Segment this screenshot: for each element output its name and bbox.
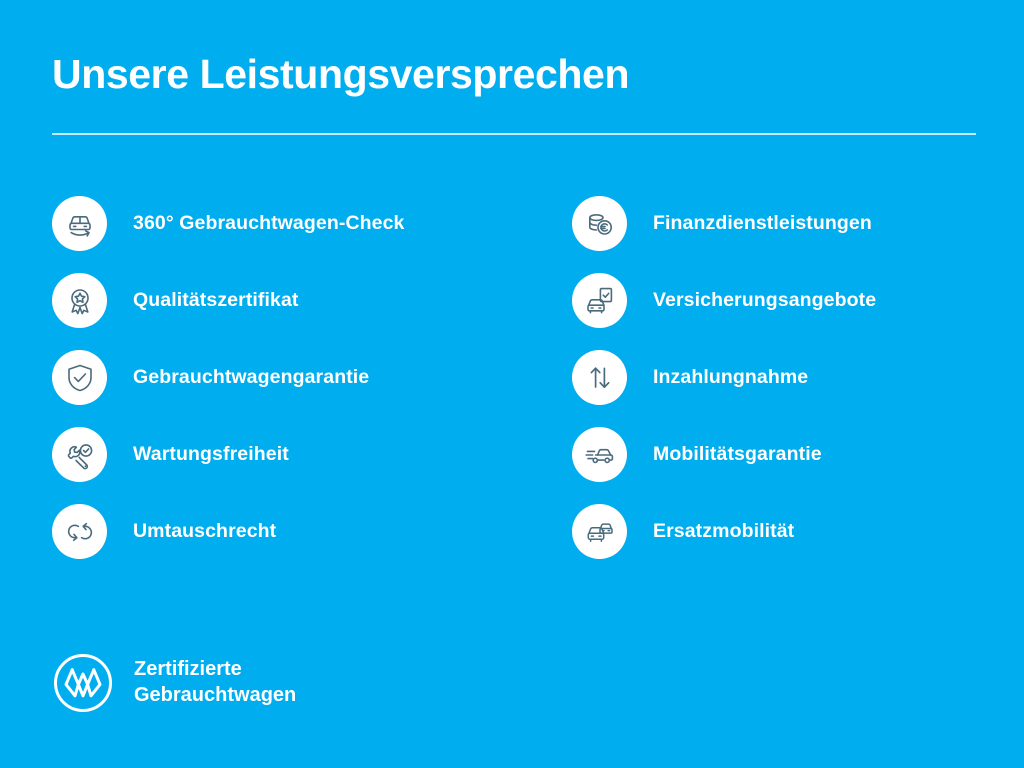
coins-euro-icon (572, 196, 627, 251)
car-document-check-icon (572, 273, 627, 328)
volkswagen-logo-icon (52, 652, 114, 714)
title-divider (52, 133, 976, 135)
promises-column-right: Finanzdienstleistungen Versicherungsange… (0, 196, 1024, 581)
two-cars-icon (572, 504, 627, 559)
promise-item-inzahlungnahme[interactable]: Inzahlungnahme (572, 350, 1024, 405)
brand-text: Zertifizierte Gebrauchtwagen (134, 657, 296, 708)
promise-page: Unsere Leistungsversprechen 360° Gebrauc… (0, 0, 1024, 768)
promise-label: Mobilitätsgarantie (653, 443, 822, 466)
up-down-arrows-icon (572, 350, 627, 405)
page-title: Unsere Leistungsversprechen (52, 52, 976, 96)
promise-label: Finanzdienstleistungen (653, 212, 872, 235)
promise-label: Ersatzmobilität (653, 520, 794, 543)
promise-label: Inzahlungnahme (653, 366, 808, 389)
brand-text-line1: Zertifizierte (134, 658, 242, 680)
promise-label: Versicherungsangebote (653, 289, 876, 312)
promise-item-versicherungsangebote[interactable]: Versicherungsangebote (572, 273, 1024, 328)
promise-item-ersatzmobilitaet[interactable]: Ersatzmobilität (572, 504, 1024, 559)
brand-text-line2: Gebrauchtwagen (134, 684, 296, 706)
header: Unsere Leistungsversprechen (52, 52, 976, 96)
car-motion-icon (572, 427, 627, 482)
brand-lockup: Zertifizierte Gebrauchtwagen (52, 652, 296, 714)
promise-item-finanzdienstleistungen[interactable]: Finanzdienstleistungen (572, 196, 1024, 251)
promises-grid: 360° Gebrauchtwagen-Check Qualitätszerti… (0, 196, 1024, 581)
promise-item-mobilitaetsgarantie[interactable]: Mobilitätsgarantie (572, 427, 1024, 482)
